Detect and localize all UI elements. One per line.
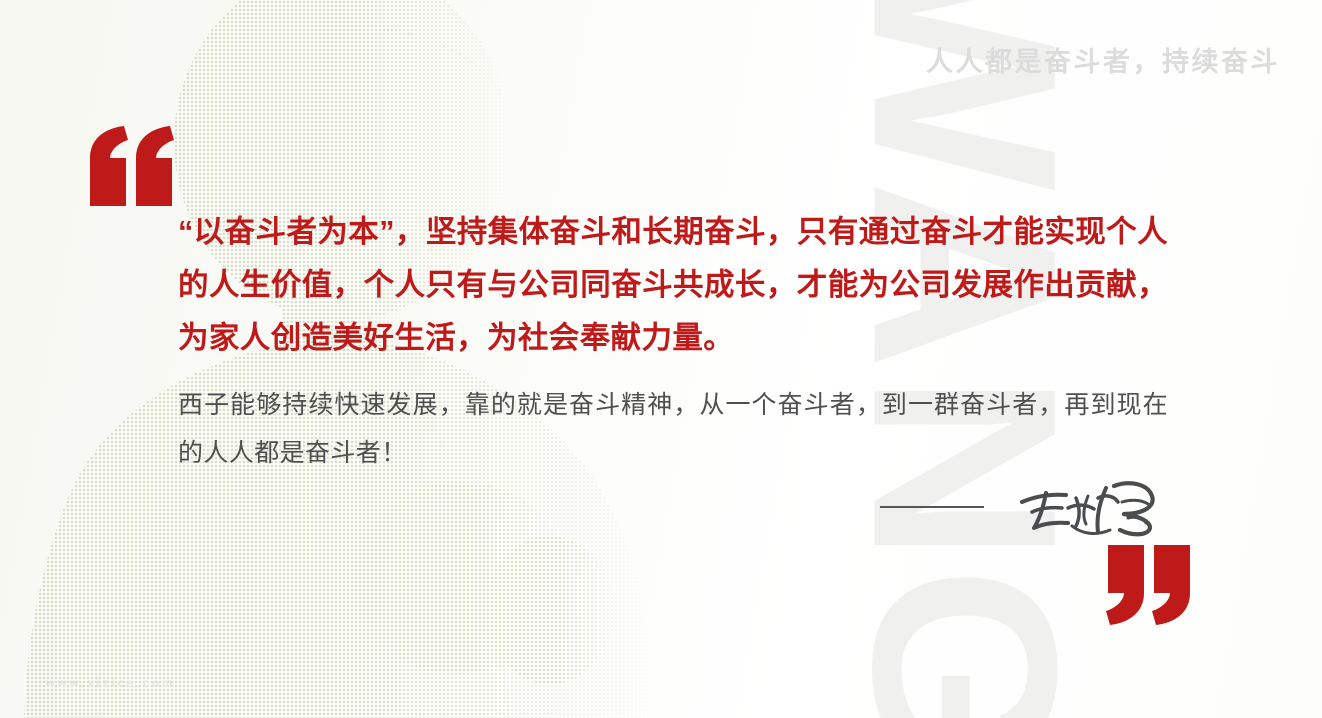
quote-content: “以奋斗者为本”，坚持集体奋斗和长期奋斗，只有通过奋斗才能实现个人的人生价值，个… [178,206,1168,477]
quote-body-text: 西子能够持续快速发展，靠的就是奋斗精神，从一个奋斗者，到一群奋斗者，再到现在的人… [178,381,1168,477]
footer-url: www.xizice.com [46,676,175,690]
attribution-dash [880,506,984,508]
attribution [880,474,1160,540]
header-slogan: 人人都是奋斗者，持续奋斗 [926,40,1280,79]
close-quote-icon [1104,545,1196,625]
quote-highlight-text: “以奋斗者为本”，坚持集体奋斗和长期奋斗，只有通过奋斗才能实现个人的人生价值，个… [178,206,1168,365]
handwritten-signature [1010,474,1160,540]
quote-banner: WANG 人人都是奋斗者，持续奋斗 “以奋斗者为本”，坚持集体奋斗和长期奋斗，只… [0,0,1322,718]
open-quote-icon [84,126,176,206]
